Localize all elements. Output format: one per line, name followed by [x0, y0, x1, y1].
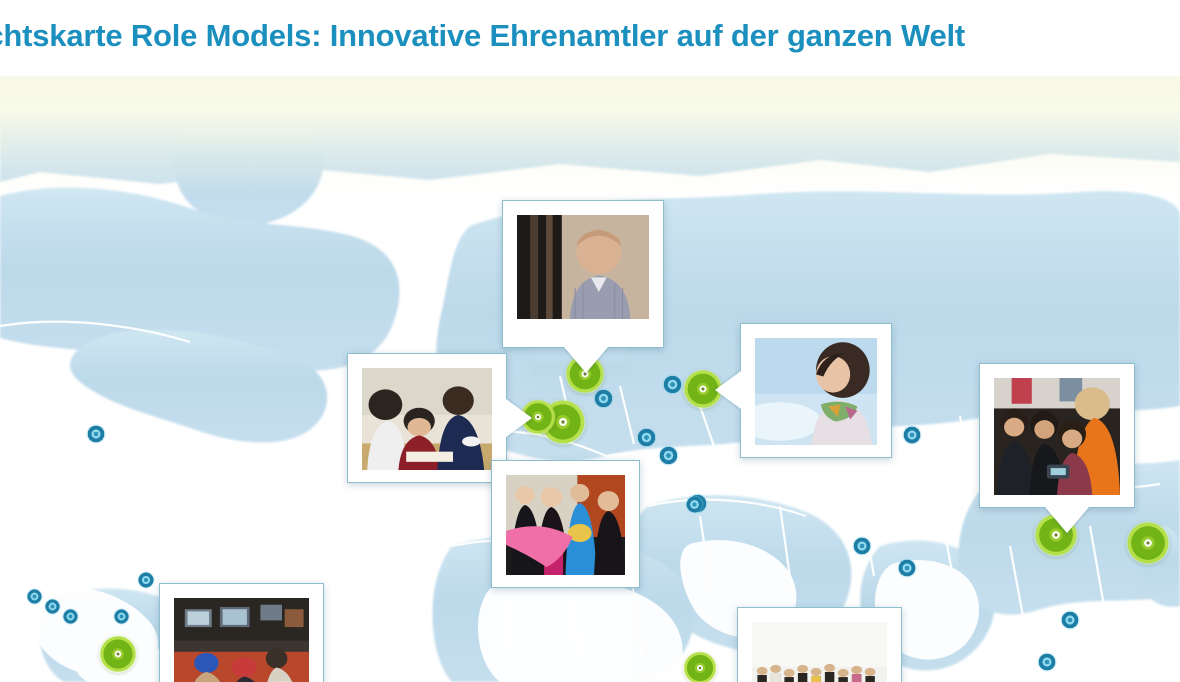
callout-group-pink-banner-photo	[506, 475, 625, 575]
callout-children-device-photo	[994, 378, 1120, 495]
marker-central-america-3[interactable]	[62, 608, 79, 625]
marker-central-america[interactable]	[26, 588, 43, 605]
callout-tutoring-children-tail	[506, 399, 532, 437]
callout-computer-lab[interactable]	[159, 583, 324, 682]
marker-southeast-asia[interactable]	[1060, 610, 1080, 630]
marker-east-asia-japan[interactable]	[1126, 521, 1170, 565]
marker-caribbean[interactable]	[113, 608, 130, 625]
callout-computer-lab-photo	[174, 598, 309, 682]
marker-eastern-europe[interactable]	[636, 427, 657, 448]
callout-portrait-man-tail	[564, 347, 608, 373]
map-overlay-layer	[0, 76, 1180, 682]
marker-south-asia[interactable]	[852, 536, 872, 556]
callout-large-group[interactable]	[737, 607, 902, 682]
callout-children-device[interactable]	[979, 363, 1135, 508]
marker-south-america-north[interactable]	[137, 571, 155, 589]
callout-woman-portrait[interactable]	[740, 323, 892, 458]
marker-baltics[interactable]	[593, 388, 614, 409]
page-header: ersichtskarte Role Models: Innovative Eh…	[0, 0, 1180, 76]
marker-middle-east[interactable]	[685, 495, 704, 514]
callout-tutoring-children[interactable]	[347, 353, 507, 483]
marker-africa-west[interactable]	[683, 651, 717, 682]
marker-north-america-east[interactable]	[86, 424, 106, 444]
callout-portrait-man-photo	[517, 215, 649, 319]
page-title: ersichtskarte Role Models: Innovative Eh…	[0, 18, 1180, 54]
marker-indonesia[interactable]	[1037, 652, 1057, 672]
callout-group-pink-banner[interactable]	[491, 460, 640, 588]
marker-central-asia[interactable]	[902, 425, 922, 445]
marker-india[interactable]	[897, 558, 917, 578]
marker-central-america-2[interactable]	[44, 598, 61, 615]
role-models-map-page: ersichtskarte Role Models: Innovative Eh…	[0, 0, 1180, 682]
callout-woman-portrait-photo	[755, 338, 877, 445]
marker-brazil[interactable]	[99, 635, 137, 673]
callout-portrait-man[interactable]	[502, 200, 664, 348]
callout-children-device-tail	[1045, 507, 1089, 533]
marker-balkans[interactable]	[662, 374, 683, 395]
callout-woman-portrait-tail	[715, 371, 741, 409]
world-map-canvas[interactable]	[0, 76, 1180, 682]
callout-large-group-photo	[752, 622, 887, 682]
marker-eastern-europe-2[interactable]	[658, 445, 679, 466]
callout-tutoring-children-photo	[362, 368, 492, 470]
